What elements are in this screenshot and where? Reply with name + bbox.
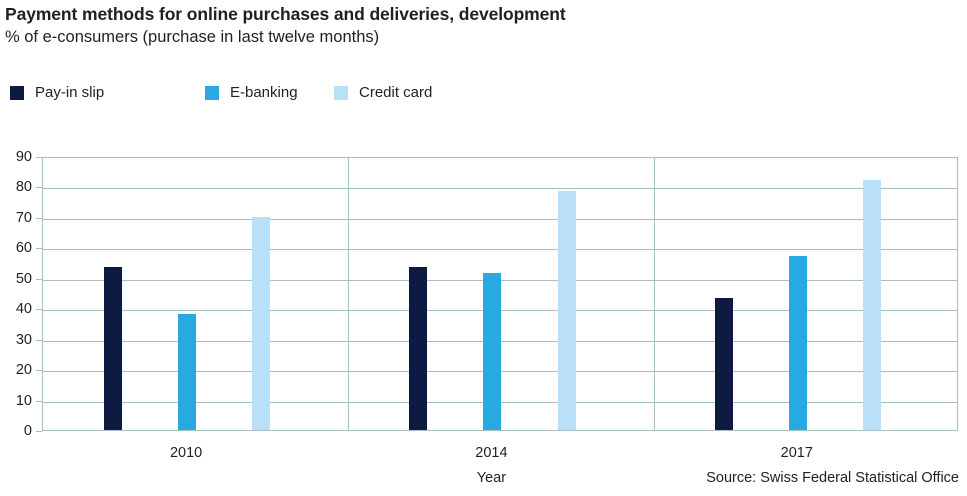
- group-divider: [348, 158, 349, 430]
- y-axis-tick-label: 20: [0, 363, 32, 377]
- y-axis-tick-mark: [36, 431, 42, 432]
- gridline: [43, 188, 957, 189]
- gridline: [43, 219, 957, 220]
- bar-pay-in-slip-2017[interactable]: [715, 298, 733, 430]
- x-axis-tick-label-2017: 2017: [757, 445, 837, 461]
- y-axis-tick-label: 40: [0, 302, 32, 316]
- y-axis-tick-label: 30: [0, 333, 32, 347]
- y-axis-tick-label: 70: [0, 211, 32, 225]
- y-axis-tick-label: 0: [0, 424, 32, 438]
- plot-area: [42, 157, 958, 431]
- x-axis-tick-label-2014: 2014: [451, 445, 531, 461]
- chart-plot-wrapper: 0102030405060708090 201020142017 Year So…: [0, 0, 967, 496]
- bar-credit-card-2014[interactable]: [558, 191, 576, 430]
- gridline: [43, 249, 957, 250]
- bar-e-banking-2014[interactable]: [483, 273, 501, 430]
- bar-credit-card-2017[interactable]: [863, 180, 881, 430]
- y-axis-tick-label: 10: [0, 394, 32, 408]
- y-axis-tick-label: 80: [0, 180, 32, 194]
- bar-pay-in-slip-2010[interactable]: [104, 267, 122, 430]
- source-note: Source: Swiss Federal Statistical Office: [706, 470, 959, 486]
- bar-credit-card-2010[interactable]: [252, 217, 270, 430]
- bar-e-banking-2017[interactable]: [789, 256, 807, 430]
- bar-pay-in-slip-2014[interactable]: [409, 267, 427, 430]
- group-divider: [654, 158, 655, 430]
- x-axis-tick-label-2010: 2010: [146, 445, 226, 461]
- x-axis-title: Year: [451, 470, 531, 486]
- y-axis-tick-label: 60: [0, 241, 32, 255]
- y-axis-tick-label: 90: [0, 150, 32, 164]
- y-axis-tick-label: 50: [0, 272, 32, 286]
- bar-e-banking-2010[interactable]: [178, 314, 196, 430]
